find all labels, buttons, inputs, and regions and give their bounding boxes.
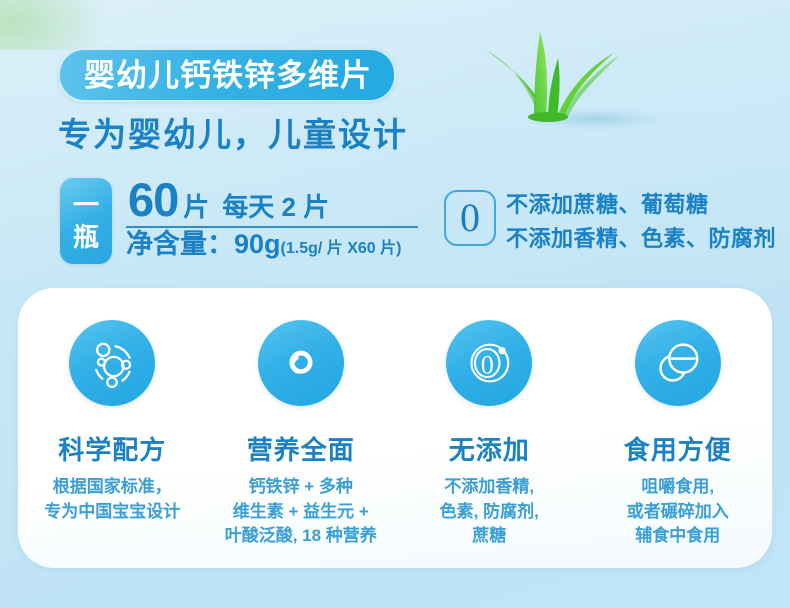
tablet-count-row: 60 片 每天 2 片 [122,176,422,223]
net-weight-detail: (1.5g/ 片 X60 片) [281,240,402,258]
product-subtitle: 专为婴幼儿，儿童设计 [58,108,408,156]
trefoil-knot-icon [258,320,344,406]
grass-sprout-illustration [468,18,698,153]
zero-additive-badge: 0 [444,190,496,246]
one-bottle-badge: 一 瓶 [60,178,112,264]
zero-claim-line-2: 不添加香精、色素、防腐剂 [506,222,776,256]
two-tablets-icon [635,320,721,406]
one-bottle-line1: 一 [73,189,99,222]
one-bottle-line2: 瓶 [73,221,99,254]
feature-description: 不添加香精, 色素, 防腐剂, 蔗糖 [440,475,539,549]
feature-description: 根据国家标准， 专为中国宝宝设计 [44,475,180,524]
zero-claim-line-1: 不添加蔗糖、葡萄糖 [506,188,776,222]
spec-block: 60 片 每天 2 片 净含量：90g (1.5g/ 片 X60 片) [122,176,422,260]
svg-text:0: 0 [481,351,494,380]
feature-item-complete-nutrition: 营养全面 钙铁锌 + 多种 维生素 + 益生元 + 叶酸泛酸, 18 种营养 [207,288,396,568]
feature-item-scientific-formula: 科学配方 根据国家标准， 专为中国宝宝设计 [18,288,207,568]
product-title: 婴幼儿钙铁锌多维片 [84,60,372,91]
feature-item-easy-to-take: 食用方便 咀嚼食用, 或者碾碎加入 辅食中食用 [584,288,773,568]
spec-divider [126,226,418,228]
daily-dose-text: 每天 2 片 [222,194,329,220]
feature-title: 无添加 [449,430,530,467]
tablet-count-unit: 片 [183,194,209,220]
features-row: 科学配方 根据国家标准， 专为中国宝宝设计 营养全面 钙铁锌 + 多种 维生素 … [18,288,772,568]
feature-title: 营养全面 [247,430,355,467]
product-title-badge: 婴幼儿钙铁锌多维片 [58,48,396,102]
feature-description: 钙铁锌 + 多种 维生素 + 益生元 + 叶酸泛酸, 18 种营养 [225,475,377,549]
zero-claim-text-group: 不添加蔗糖、葡萄糖 不添加香精、色素、防腐剂 [506,188,776,256]
corner-tint [0,0,110,50]
net-weight-label: 净含量：90g [126,230,281,260]
zero-orbit-icon: 0 [446,320,532,406]
net-weight-row: 净含量：90g (1.5g/ 片 X60 片) [122,230,422,260]
zero-badge-text: 0 [460,198,480,238]
feature-description: 咀嚼食用, 或者碾碎加入 辅食中食用 [627,475,729,549]
feature-title: 食用方便 [624,430,732,467]
product-infographic-page: 婴幼儿钙铁锌多维片 专为婴幼儿，儿童设计 一 瓶 60 片 每天 2 片 净含量… [0,0,790,608]
feature-title: 科学配方 [58,430,166,467]
feature-item-no-additives: 0 无添加 不添加香精, 色素, 防腐剂, 蔗糖 [395,288,584,568]
tablet-count-number: 60 [128,176,178,223]
molecule-icon [69,320,155,406]
